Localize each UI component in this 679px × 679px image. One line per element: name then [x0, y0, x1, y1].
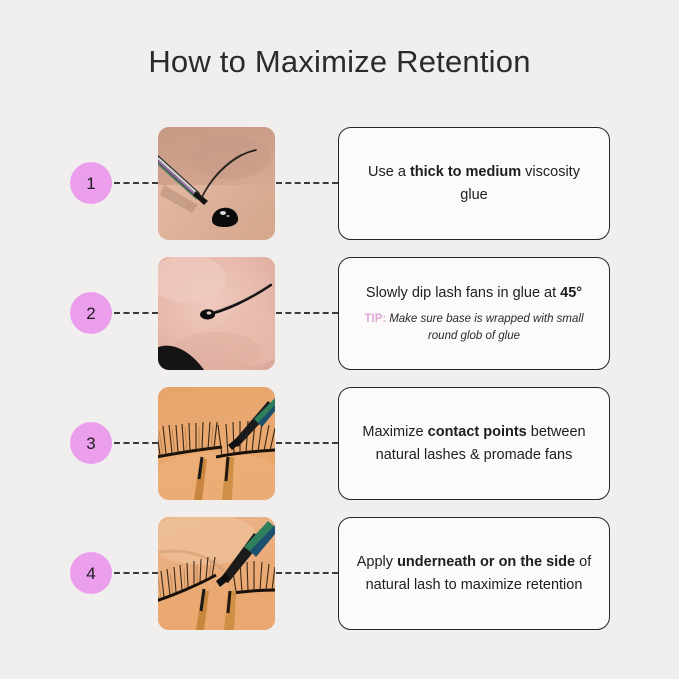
step-text: Apply underneath or on the side of natur… — [355, 551, 593, 595]
step-text: Maximize contact points between natural … — [355, 421, 593, 465]
step-text-part: Use a — [368, 164, 410, 180]
connector-dashed-right — [276, 312, 338, 314]
connector-dashed-left — [114, 312, 158, 314]
step-text-card: Apply underneath or on the side of natur… — [338, 517, 610, 630]
step-text: Slowly dip lash fans in glue at 45° — [366, 282, 582, 304]
step-row: 1 — [0, 127, 679, 257]
step-number-badge: 1 — [70, 162, 112, 204]
connector-dashed-right — [276, 572, 338, 574]
tip-label: TIP: — [364, 313, 386, 325]
infographic-poster: How to Maximize Retention 1 — [0, 0, 679, 679]
step-text-emphasis: 45° — [560, 285, 582, 301]
step-number-badge: 4 — [70, 552, 112, 594]
tweezers-lash-glue-drop-icon — [158, 127, 275, 240]
step-text-emphasis: contact points — [428, 424, 527, 440]
step-number-badge: 3 — [70, 422, 112, 464]
step-text-emphasis: thick to medium — [410, 164, 521, 180]
connector-dashed-left — [114, 182, 158, 184]
page-title: How to Maximize Retention — [0, 44, 679, 80]
connector-dashed-right — [276, 182, 338, 184]
step-image-lash-fan-dipped-in-glue — [158, 257, 275, 370]
step-tip: TIP:Make sure base is wrapped with small… — [355, 311, 593, 344]
step-text-card: Maximize contact points between natural … — [338, 387, 610, 500]
tip-text: Make sure base is wrapped with small rou… — [389, 313, 583, 342]
step-text-emphasis: underneath or on the side — [397, 554, 575, 570]
lash-underneath-application-icon — [158, 517, 275, 630]
step-image-lash-extension-contact-points — [158, 387, 275, 500]
step-text-card: Slowly dip lash fans in glue at 45° TIP:… — [338, 257, 610, 370]
step-image-tweezers-lash-with-glue-drop — [158, 127, 275, 240]
step-row: 2 — [0, 257, 679, 387]
step-text: Use a thick to medium viscosity glue — [355, 161, 593, 205]
step-number-badge: 2 — [70, 292, 112, 334]
connector-dashed-right — [276, 442, 338, 444]
step-image-lash-applied-underneath — [158, 517, 275, 630]
step-row: 3 — [0, 387, 679, 517]
lash-fan-glue-dip-icon — [158, 257, 275, 370]
step-text-card: Use a thick to medium viscosity glue — [338, 127, 610, 240]
step-text-part: Maximize — [362, 424, 427, 440]
steps-list: 1 — [0, 127, 679, 647]
connector-dashed-left — [114, 572, 158, 574]
step-text-part: Apply — [357, 554, 397, 570]
step-text-part: Slowly dip lash fans in glue at — [366, 285, 560, 301]
connector-dashed-left — [114, 442, 158, 444]
step-row: 4 — [0, 517, 679, 647]
lash-contact-points-icon — [158, 387, 275, 500]
